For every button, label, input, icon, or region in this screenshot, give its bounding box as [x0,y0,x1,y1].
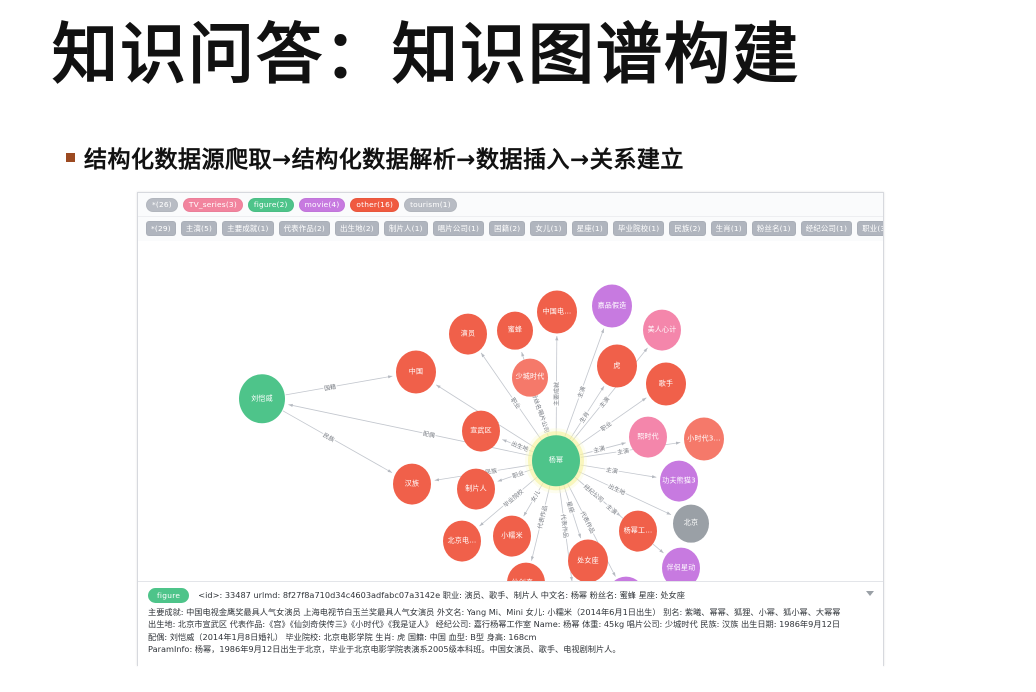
graph-node-geshou[interactable]: 歌手 [646,362,686,405]
graph-node-xiaoshidai3[interactable]: 小时代3… [684,417,724,460]
graph-edge [283,411,392,473]
knowledge-graph-app: *(26)TV_series(3)figure(2)movie(4)other(… [137,192,884,666]
detail-header: figure <id>: 33487 urlmd: 8f27f8a710d34c… [148,588,875,603]
graph-edge-label: 主要成就 [552,381,561,407]
type-filter-chip-0[interactable]: *(26) [146,198,178,212]
graph-edge [286,376,393,395]
relation-filter-chip-6[interactable]: 唱片公司(1) [433,221,484,235]
graph-canvas[interactable]: 配偶国籍国籍民族民族职业粉丝名唱片公司主要成就主演生肖主演职业主演主演主演出生地… [138,241,883,581]
relation-filter-chip-7[interactable]: 国籍(2) [489,221,525,235]
type-filter-chip-4[interactable]: other(16) [350,198,399,212]
type-filter-chip-1[interactable]: TV_series(3) [183,198,243,212]
graph-node-hu[interactable]: 虎 [597,344,637,387]
relation-filter-chip-10[interactable]: 毕业院校(1) [613,221,664,235]
page-title: 知识问答：知识图谱构建 [52,14,982,96]
graph-node-gongfu[interactable]: 功夫熊猫3 [660,460,698,501]
entity-type-badge: figure [148,588,189,603]
graph-node-mifeng[interactable]: 蜜蜂 [497,311,533,350]
type-filter-chip-5[interactable]: tourism(1) [404,198,457,212]
graph-node-yangmigongzuo[interactable]: 杨幂工… [619,510,657,551]
detail-line-3: 出生地: 北京市宣武区 代表作品:《宫》《仙剑奇侠传三》《小时代》《我是证人》 … [148,618,875,630]
type-filter-chip-3[interactable]: movie(4) [299,198,346,212]
graph-node-beijingdian[interactable]: 北京电… [443,520,481,561]
detail-line-2: 主要成就: 中国电视金鹰奖最具人气女演员 上海电视节白玉兰奖最具人气女演员 外文… [148,606,875,618]
bullet-text: 结构化数据源爬取→结构化数据解析→数据插入→关系建立 [84,140,684,174]
chevron-down-icon[interactable] [866,591,874,596]
graph-node-xuanwuqu[interactable]: 宣武区 [462,410,500,451]
bullet-row: 结构化数据源爬取→结构化数据解析→数据插入→关系建立 [66,140,684,174]
relation-filter-chip-13[interactable]: 粉丝名(1) [752,221,796,235]
relation-filter-chip-4[interactable]: 出生地(2) [335,221,379,235]
graph-node-beijing[interactable]: 北京 [673,504,709,543]
relation-filter-chip-8[interactable]: 女儿(1) [530,221,566,235]
graph-node-zhaoshidai[interactable]: 照时代 [629,416,667,457]
relation-filter-chip-2[interactable]: 主要成就(1) [222,221,273,235]
graph-node-meiren[interactable]: 美人心计 [643,309,681,350]
graph-node-shaocheng[interactable]: 少城时代 [512,358,548,397]
graph-node-banlv[interactable]: 伴侣星动 [662,547,700,580]
graph-node-zhipianren[interactable]: 制片人 [457,468,495,509]
detail-line-4: 配偶: 刘恺威（2014年1月8日婚礼） 毕业院校: 北京电影学院 生肖: 虎 … [148,631,875,643]
relation-type-filter-bar: *(29)主演(5)主要成就(1)代表作品(2)出生地(2)制片人(1)唱片公司… [138,216,883,240]
graph-node-liukaiwei[interactable]: 刘恺威 [239,374,285,423]
graph-edge-label: 主演 [615,445,630,456]
graph-node-yangmi[interactable]: 杨幂 [532,435,580,487]
graph-edge-label: 主演 [605,464,620,475]
entity-type-filter-bar: *(26)TV_series(3)figure(2)movie(4)other(… [138,193,883,216]
graph-node-yanyuan[interactable]: 演员 [449,313,487,354]
type-filter-chip-2[interactable]: figure(2) [248,198,294,212]
relation-filter-chip-5[interactable]: 制片人(1) [384,221,428,235]
graph-node-xiaonuomi[interactable]: 小糯米 [493,515,531,556]
graph-node-chunvzuo[interactable]: 处女座 [568,539,608,581]
graph-node-zhongguo[interactable]: 中国 [396,350,436,393]
graph-node-hanzu[interactable]: 汉族 [393,463,431,504]
graph-node-zhongguodian[interactable]: 中国电… [537,290,577,333]
relation-filter-chip-11[interactable]: 民族(2) [669,221,705,235]
relation-filter-chip-1[interactable]: 主演(5) [181,221,217,235]
relation-filter-chip-0[interactable]: *(29) [146,221,176,235]
relation-filter-chip-15[interactable]: 职业(3) [857,221,883,235]
detail-line-5: ParamInfo: 杨幂，1986年9月12日出生于北京，毕业于北京电影学院表… [148,643,875,655]
relation-filter-chip-9[interactable]: 星座(1) [572,221,608,235]
bullet-marker-icon [66,153,75,162]
relation-filter-chip-3[interactable]: 代表作品(2) [279,221,330,235]
relation-filter-chip-14[interactable]: 经纪公司(1) [801,221,852,235]
relation-filter-chip-12[interactable]: 生肖(1) [711,221,747,235]
entity-detail-panel: figure <id>: 33487 urlmd: 8f27f8a710d34c… [138,581,883,673]
graph-node-jiapin[interactable]: 嘉品假造 [592,284,632,327]
detail-line-1: <id>: 33487 urlmd: 8f27f8a710d34c4603adf… [198,589,685,601]
